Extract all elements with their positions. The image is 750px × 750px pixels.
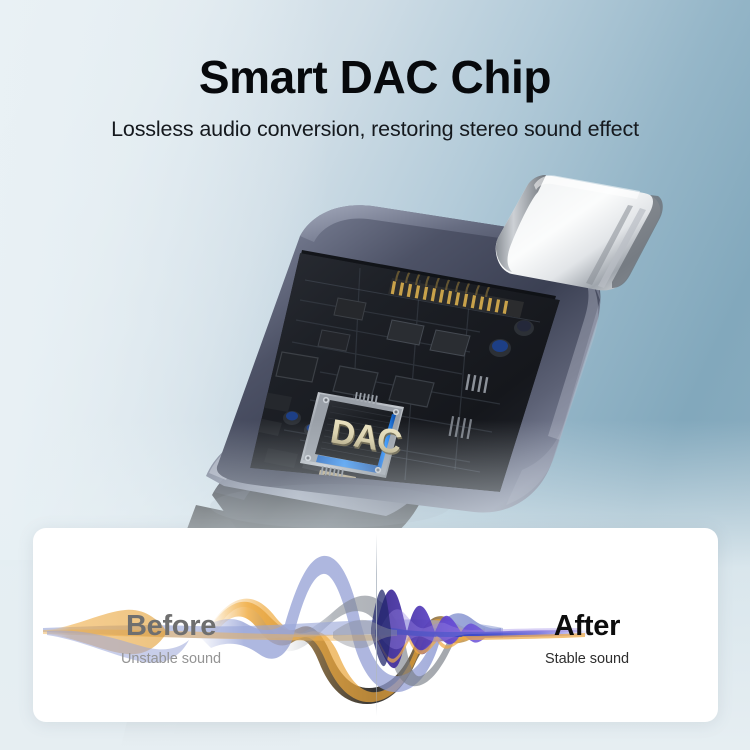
after-sublabel: Stable sound: [487, 651, 687, 667]
before-after-card: Before Unstable sound After Stable sound: [33, 528, 718, 722]
after-section: After Stable sound: [377, 528, 718, 722]
usb-c-tip-icon: [496, 175, 663, 290]
before-label: Before: [71, 611, 271, 642]
product-marketing-image: DAC DAC Smart DAC Chip Lossle: [0, 0, 750, 750]
page-title: Smart DAC Chip: [0, 53, 750, 101]
before-section: Before Unstable sound: [33, 528, 376, 722]
page-subtitle: Lossless audio conversion, restoring ste…: [0, 117, 750, 142]
before-sublabel: Unstable sound: [71, 651, 271, 667]
after-label: After: [487, 611, 687, 642]
header: Smart DAC Chip Lossless audio conversion…: [0, 0, 750, 142]
